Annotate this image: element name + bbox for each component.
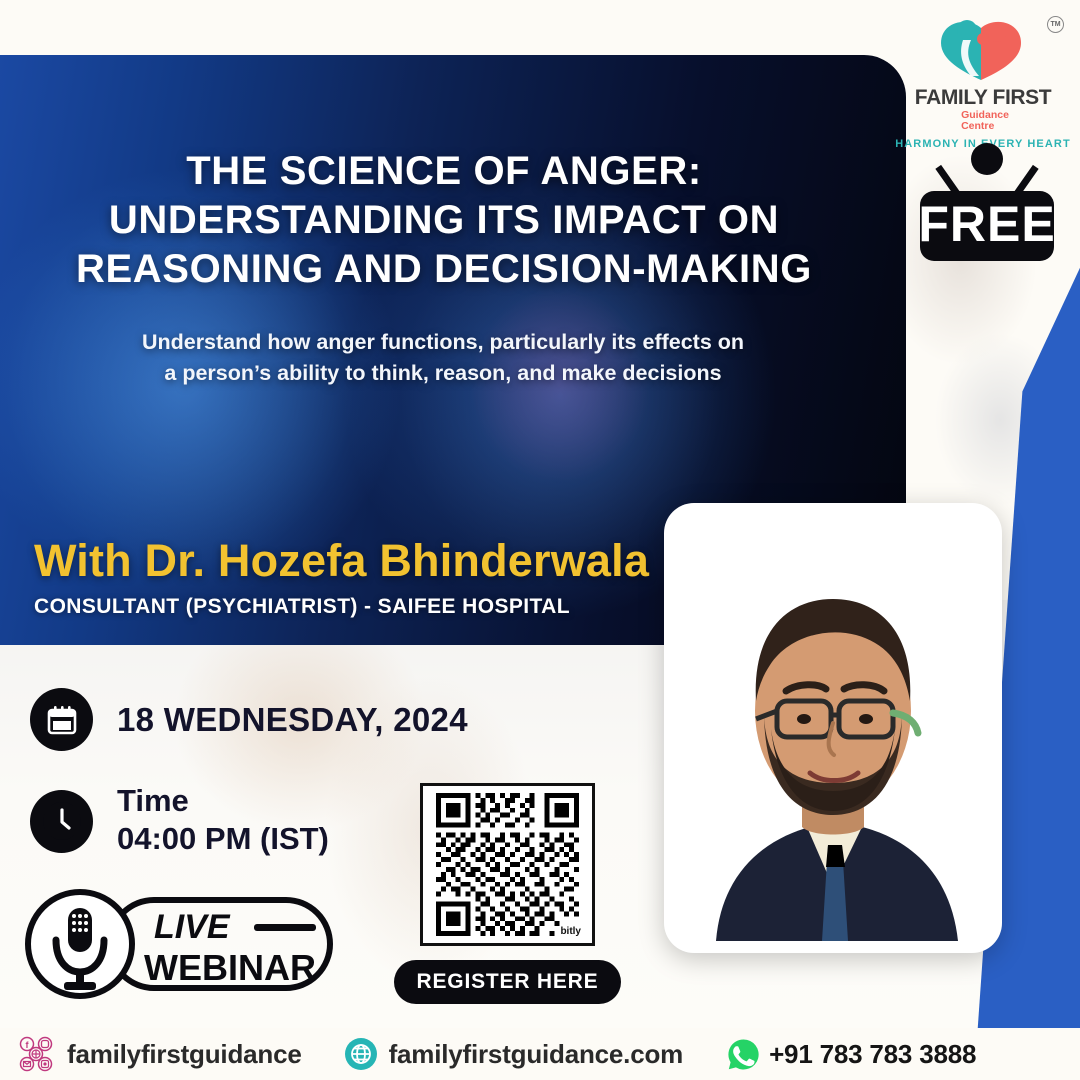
- logo-wordmark: FAMILY FIRST: [915, 86, 1051, 110]
- live-webinar-badge: LIVE WEBINAR: [22, 888, 342, 1000]
- phone-text: +91 783 783 3888: [769, 1039, 976, 1070]
- speaker-photo-card: [664, 503, 1002, 953]
- time-label: Time: [117, 785, 329, 818]
- svg-text:FREE: FREE: [918, 196, 1055, 252]
- poster-canvas: THE SCIENCE OF ANGER: UNDERSTANDING ITS …: [0, 0, 1080, 1080]
- family-heart-icon: [931, 20, 1035, 82]
- hero-title-line-1: THE SCIENCE OF ANGER:: [22, 147, 866, 196]
- hero-title: THE SCIENCE OF ANGER: UNDERSTANDING ITS …: [0, 147, 906, 293]
- hero-subtitle: Understand how anger functions, particul…: [0, 327, 906, 388]
- qr-code[interactable]: bitly: [420, 783, 595, 946]
- hero-subtitle-line-2: a person’s ability to think, reason, and…: [60, 358, 826, 389]
- logo-subname: Guidance Centre: [961, 110, 1009, 132]
- logo-mark: TM: [894, 14, 1072, 86]
- social-cluster-icon: f: [16, 1034, 56, 1074]
- brand-logo: TM FAMILY FIRST Guidance Centre HARMONY …: [894, 14, 1072, 150]
- hero-subtitle-line-1: Understand how anger functions, particul…: [60, 327, 826, 358]
- register-button[interactable]: REGISTER HERE: [394, 960, 621, 1004]
- website-text: familyfirstguidance.com: [389, 1039, 683, 1070]
- speaker-name: With Dr. Hozefa Bhinderwala: [34, 535, 649, 587]
- free-sign-icon: FREE: [912, 143, 1062, 265]
- svg-text:f: f: [26, 1040, 30, 1050]
- speaker-block: With Dr. Hozefa Bhinderwala CONSULTANT (…: [34, 535, 649, 619]
- speaker-avatar: [676, 515, 990, 941]
- trademark-icon: TM: [1047, 16, 1064, 33]
- whatsapp-icon: [727, 1038, 760, 1071]
- footer-social-handle[interactable]: f familyfirstguidance: [16, 1034, 302, 1074]
- live-word: LIVE: [154, 908, 231, 946]
- event-date: 18 WEDNESDAY, 2024: [117, 701, 468, 739]
- qr-brand-label: bitly: [558, 926, 583, 937]
- qr-code-matrix: [430, 793, 585, 936]
- webinar-word: WEBINAR: [144, 947, 316, 988]
- event-details: 18 WEDNESDAY, 2024 Time 04:00 PM (IST): [30, 688, 468, 857]
- footer-website[interactable]: familyfirstguidance.com: [344, 1037, 683, 1071]
- hero-title-line-2: UNDERSTANDING ITS IMPACT ON: [22, 196, 866, 245]
- registration-block: bitly REGISTER HERE: [420, 783, 621, 1004]
- calendar-icon: [30, 688, 93, 751]
- clock-icon: [30, 790, 93, 853]
- speaker-portrait-illustration: [676, 515, 990, 941]
- time-value: 04:00 PM (IST): [117, 820, 329, 857]
- date-row: 18 WEDNESDAY, 2024: [30, 688, 468, 751]
- hero-title-line-3: REASONING AND DECISION-MAKING: [22, 245, 866, 294]
- footer-bar: f familyfirstguidance: [0, 1028, 1080, 1080]
- globe-icon: [344, 1037, 378, 1071]
- speaker-role: CONSULTANT (PSYCHIATRIST) - SAIFEE HOSPI…: [34, 595, 649, 619]
- time-row: Time 04:00 PM (IST): [30, 785, 468, 857]
- footer-phone[interactable]: +91 783 783 3888: [727, 1038, 976, 1071]
- event-time: Time 04:00 PM (IST): [117, 785, 329, 857]
- logo-subname-line-2: Centre: [961, 121, 1009, 132]
- social-handle-text: familyfirstguidance: [67, 1039, 302, 1070]
